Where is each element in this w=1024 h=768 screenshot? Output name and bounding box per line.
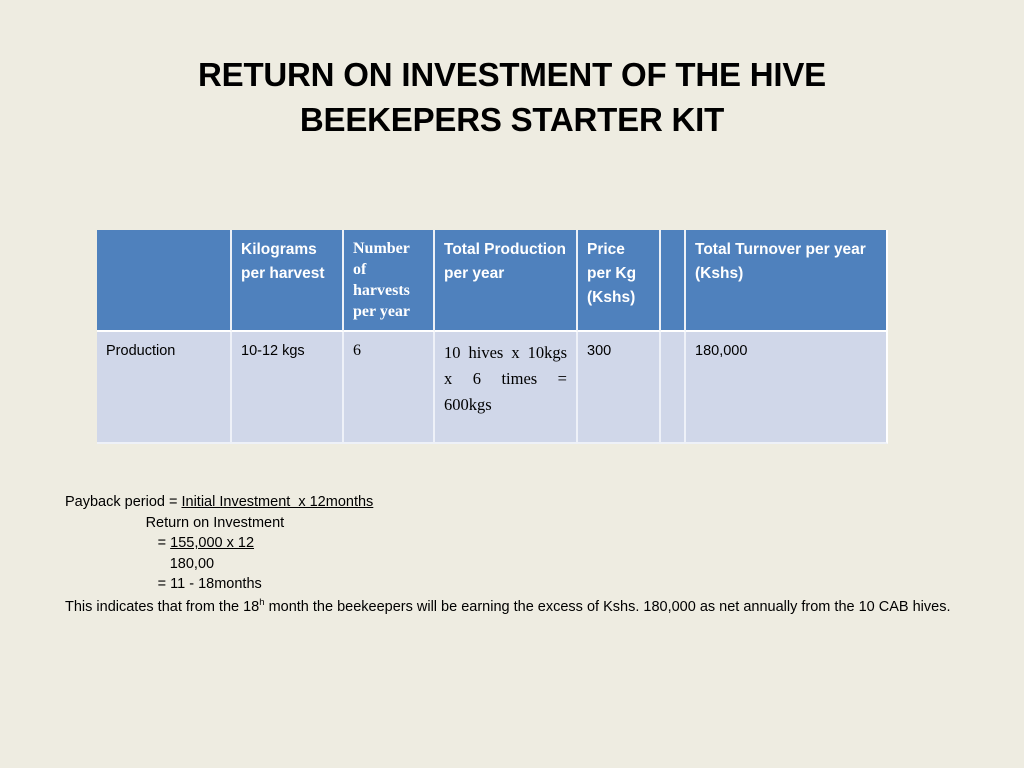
payback-line-3-prefix: = bbox=[65, 535, 170, 551]
cell-spacer bbox=[661, 332, 686, 444]
cell-total-turnover-per-year: 180,000 bbox=[686, 332, 888, 444]
cell-total-production-text: 10 hives x 10kgs x 6 times = 600kgs bbox=[444, 340, 567, 418]
page-title-line-2: BEEKEPERS STARTER KIT bbox=[110, 97, 914, 142]
payback-line-3: = 155,000 x 12 bbox=[65, 533, 965, 554]
page-title-line-1: RETURN ON INVESTMENT OF THE HIVE bbox=[110, 52, 914, 97]
table-header-total-production-per-year: Total Production per year bbox=[435, 230, 578, 332]
cell-row-label: Production bbox=[97, 332, 232, 444]
summary-part-2: month the beekeepers will be earning the… bbox=[265, 599, 951, 615]
table-header-row: Kilograms per harvest Number of harvests… bbox=[97, 230, 888, 332]
page-title: RETURN ON INVESTMENT OF THE HIVE BEEKEPE… bbox=[110, 52, 914, 142]
table-header-kilograms-per-harvest: Kilograms per harvest bbox=[232, 230, 344, 332]
payback-line-1-prefix: Payback period = bbox=[65, 494, 181, 510]
table-header-blank bbox=[97, 230, 232, 332]
cell-kilograms-per-harvest: 10-12 kgs bbox=[232, 332, 344, 444]
payback-line-5-result: = 11 - 18months bbox=[65, 574, 965, 595]
cell-price-per-kg: 300 bbox=[578, 332, 661, 444]
payback-line-4-denominator: 180,00 bbox=[65, 554, 965, 575]
payback-line-1-formula: Initial Investment x 12months bbox=[181, 494, 373, 510]
summary-statement: This indicates that from the 18h month t… bbox=[65, 593, 1024, 617]
table-row: Production 10-12 kgs 6 10 hives x 10kgs … bbox=[97, 332, 888, 444]
payback-line-3-numerator: 155,000 x 12 bbox=[170, 535, 254, 551]
payback-line-1: Payback period = Initial Investment x 12… bbox=[65, 492, 965, 513]
table-header-price-per-kg: Price per Kg (Kshs) bbox=[578, 230, 661, 332]
table-header-spacer bbox=[661, 230, 686, 332]
table-header-number-of-harvests-per-year: Number of harvests per year bbox=[344, 230, 435, 332]
summary-part-1: This indicates that from the 18 bbox=[65, 599, 259, 615]
cell-number-of-harvests-per-year: 6 bbox=[344, 332, 435, 444]
roi-table: Kilograms per harvest Number of harvests… bbox=[97, 230, 888, 444]
payback-calculation: Payback period = Initial Investment x 12… bbox=[65, 492, 965, 595]
table-header-total-turnover-per-year: Total Turnover per year (Kshs) bbox=[686, 230, 888, 332]
cell-total-production-per-year: 10 hives x 10kgs x 6 times = 600kgs bbox=[435, 332, 578, 444]
payback-line-2: Return on Investment bbox=[65, 513, 965, 534]
